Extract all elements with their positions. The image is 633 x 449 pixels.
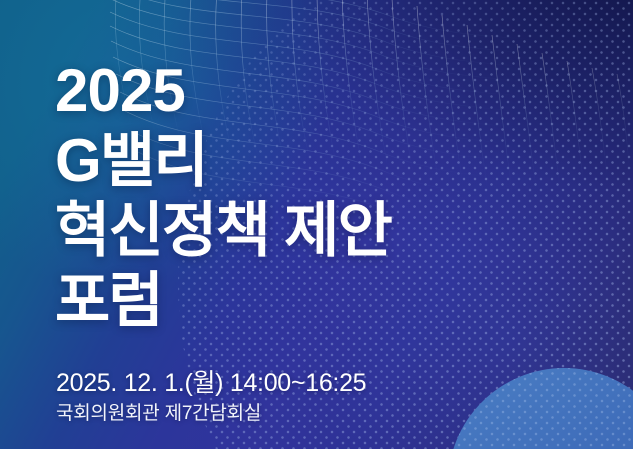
poster-text-block: 2025 G밸리 혁신정책 제안 포럼 2025. 12. 1.(월) 14:0… <box>55 0 615 449</box>
headline-line-brand: G밸리 <box>55 132 207 190</box>
event-poster: 2025 G밸리 혁신정책 제안 포럼 2025. 12. 1.(월) 14:0… <box>0 0 633 449</box>
event-venue: 국회의원회관 제7간담회실 <box>56 398 261 425</box>
event-datetime: 2025. 12. 1.(월) 14:00~16:25 <box>56 363 366 399</box>
headline-line-forum: 포럼 <box>55 272 162 330</box>
headline-line-topic: 혁신정책 제안 <box>55 202 391 260</box>
headline-line-year: 2025 <box>55 62 185 120</box>
